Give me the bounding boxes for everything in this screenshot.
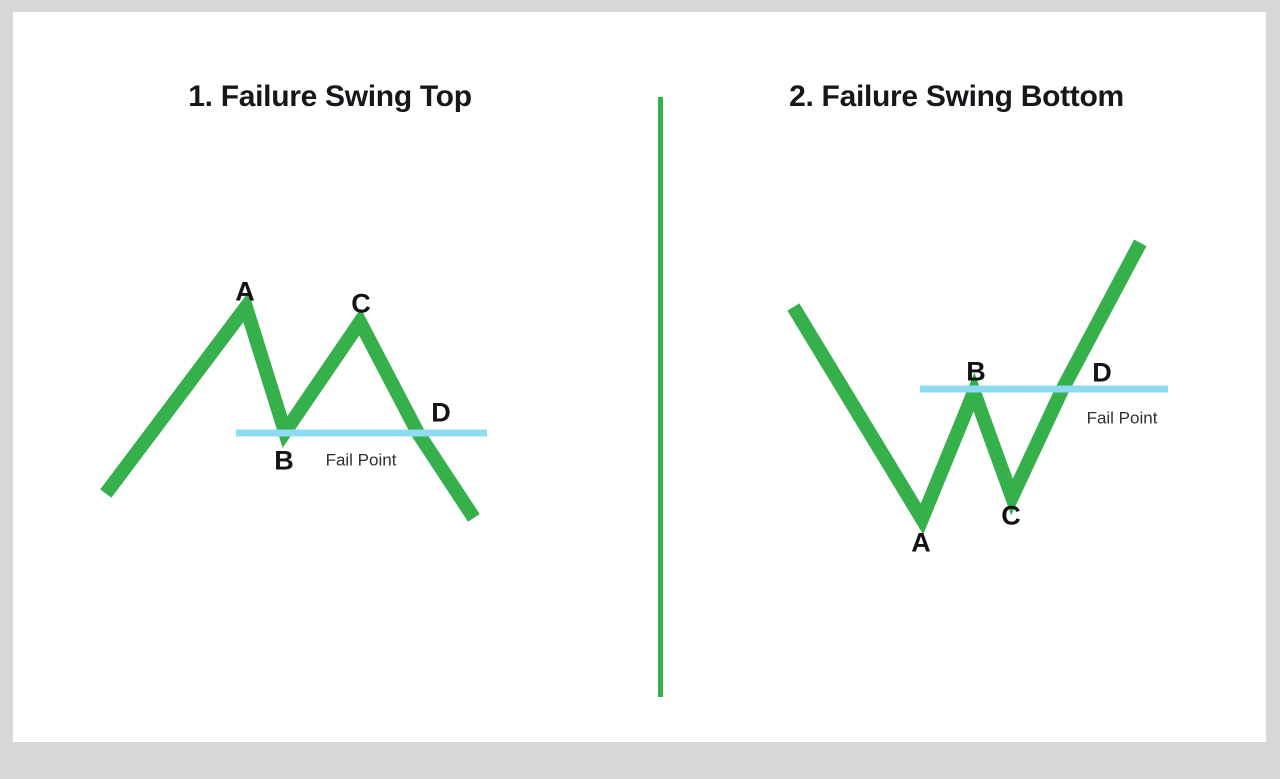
price-path-polyline [110,307,470,512]
diagram-card: 1. Failure Swing Top A C B D Fail Point … [13,12,1266,742]
vertex-label-d: D [1092,360,1112,387]
failure-swing-top-chart [13,12,647,742]
vertex-label-b: B [966,359,986,386]
vertex-label-b: B [274,448,294,475]
failure-swing-bottom-chart [647,12,1266,742]
diagram-stage: 1. Failure Swing Top A C B D Fail Point … [0,0,1280,779]
fail-point-label: Fail Point [326,452,397,469]
vertex-label-c: C [1001,503,1021,530]
panel-failure-swing-top: 1. Failure Swing Top A C B D Fail Point [13,12,647,742]
vertex-label-d: D [431,400,451,427]
panel-failure-swing-bottom: 2. Failure Swing Bottom A B C D Fail Poi… [647,12,1266,742]
vertex-label-c: C [351,291,371,318]
vertex-label-a: A [235,279,255,306]
vertex-label-a: A [911,530,931,557]
fail-point-label: Fail Point [1087,410,1158,427]
